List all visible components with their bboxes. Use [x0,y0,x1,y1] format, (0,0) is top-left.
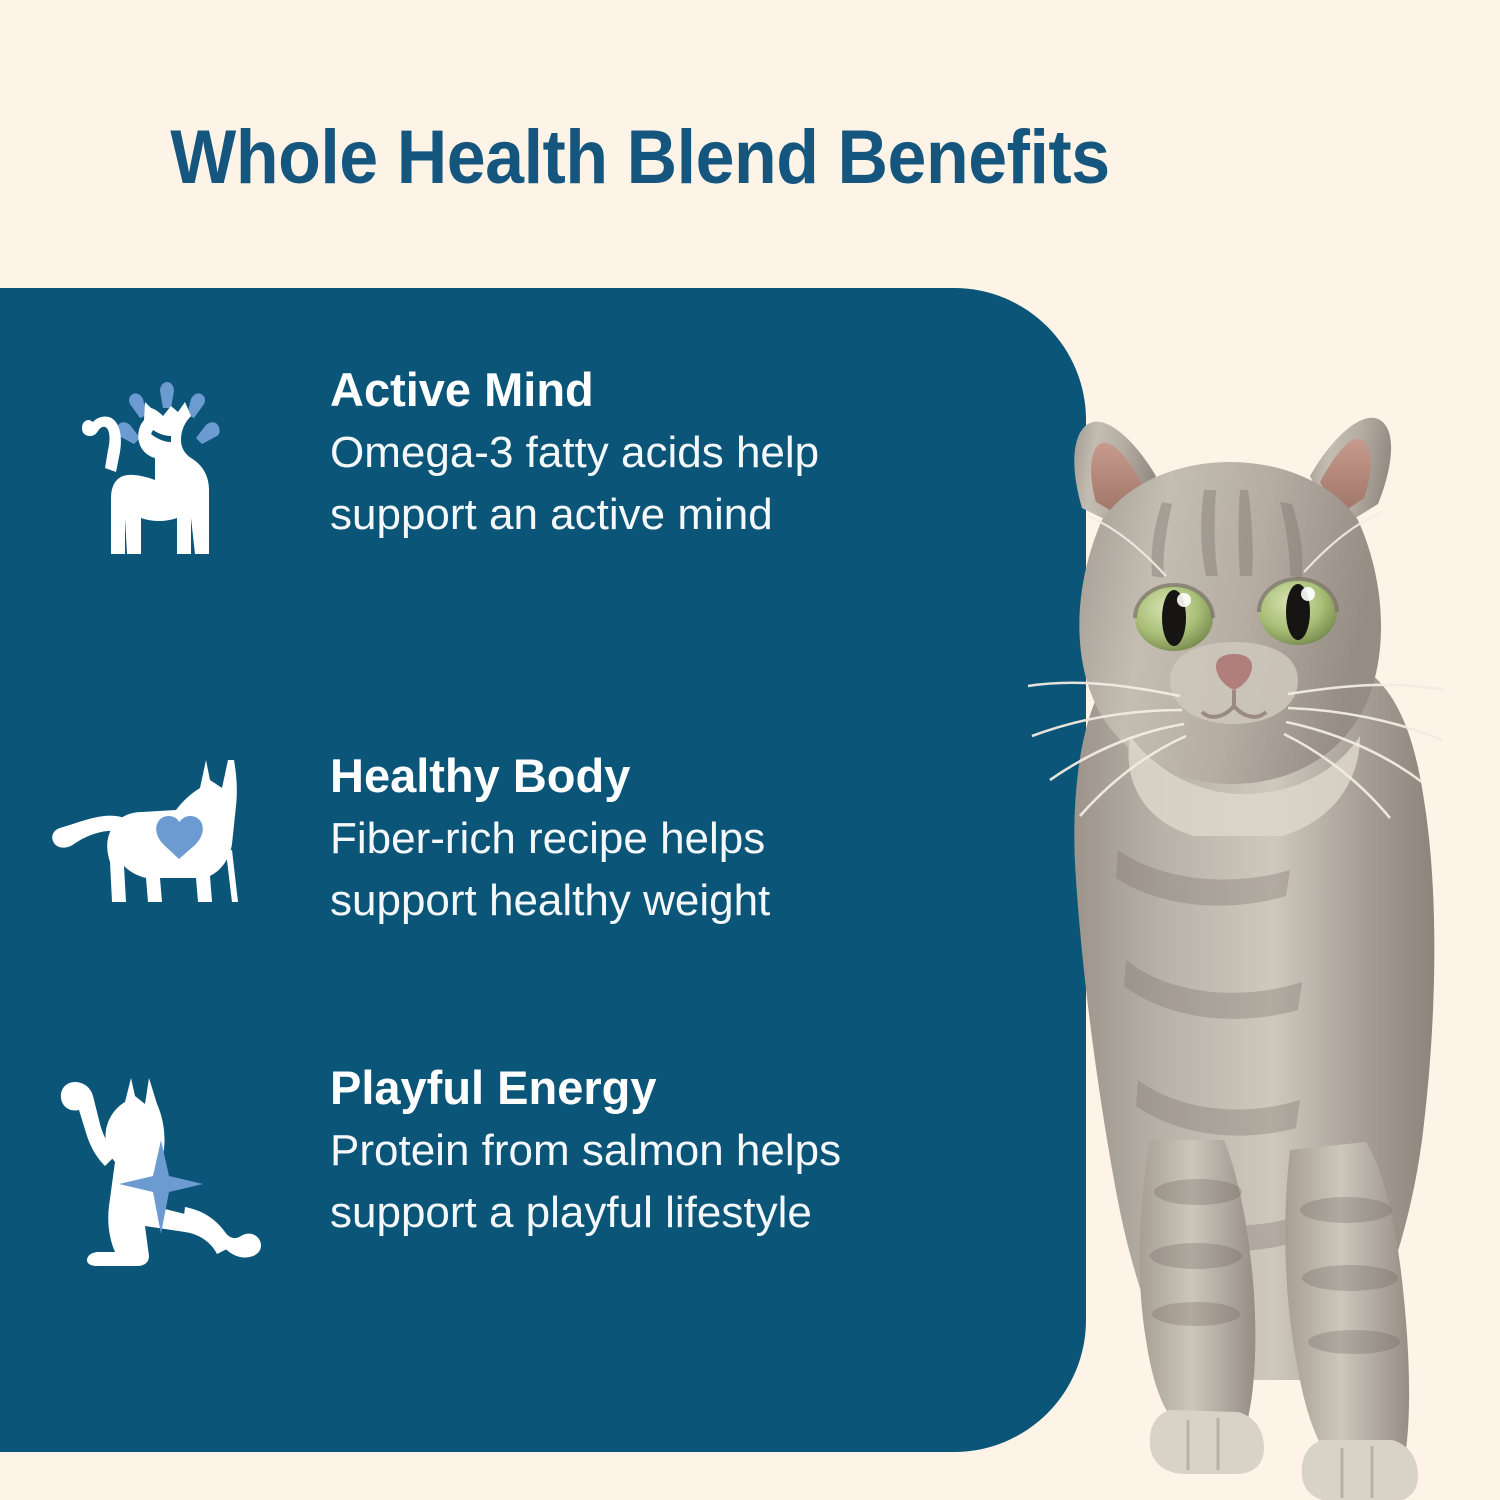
whole-health-blend-benefits-poster: Whole Health Blend Benefits [0,0,1500,1500]
benefit-text-block: Playful Energy Protein from salmon helps… [330,1060,1010,1244]
benefit-item-playful-energy: Playful Energy Protein from salmon helps… [0,1060,1010,1271]
cat-photo [1010,380,1500,1500]
benefit-title: Healthy Body [330,748,1000,804]
cat-sitting-raised-paw-with-star-icon [0,1060,330,1271]
cat-looking-up-with-sparkle-rays-icon [0,362,330,568]
benefit-item-healthy-body: Healthy Body Fiber-rich recipe helps sup… [0,748,1010,932]
benefit-text-block: Active Mind Omega-3 fatty acids help sup… [330,362,1010,546]
benefit-description: Fiber-rich recipe helps support healthy … [330,808,920,932]
benefit-title: Active Mind [330,362,1000,418]
benefit-description: Protein from salmon helps support a play… [330,1120,920,1244]
page-title: Whole Health Blend Benefits [51,120,1229,196]
benefit-text-block: Healthy Body Fiber-rich recipe helps sup… [330,748,1010,932]
cat-standing-with-heart-icon [0,748,330,919]
benefit-title: Playful Energy [330,1060,1000,1116]
benefit-description: Omega-3 fatty acids help support an acti… [330,422,920,546]
benefit-item-active-mind: Active Mind Omega-3 fatty acids help sup… [0,362,1010,568]
